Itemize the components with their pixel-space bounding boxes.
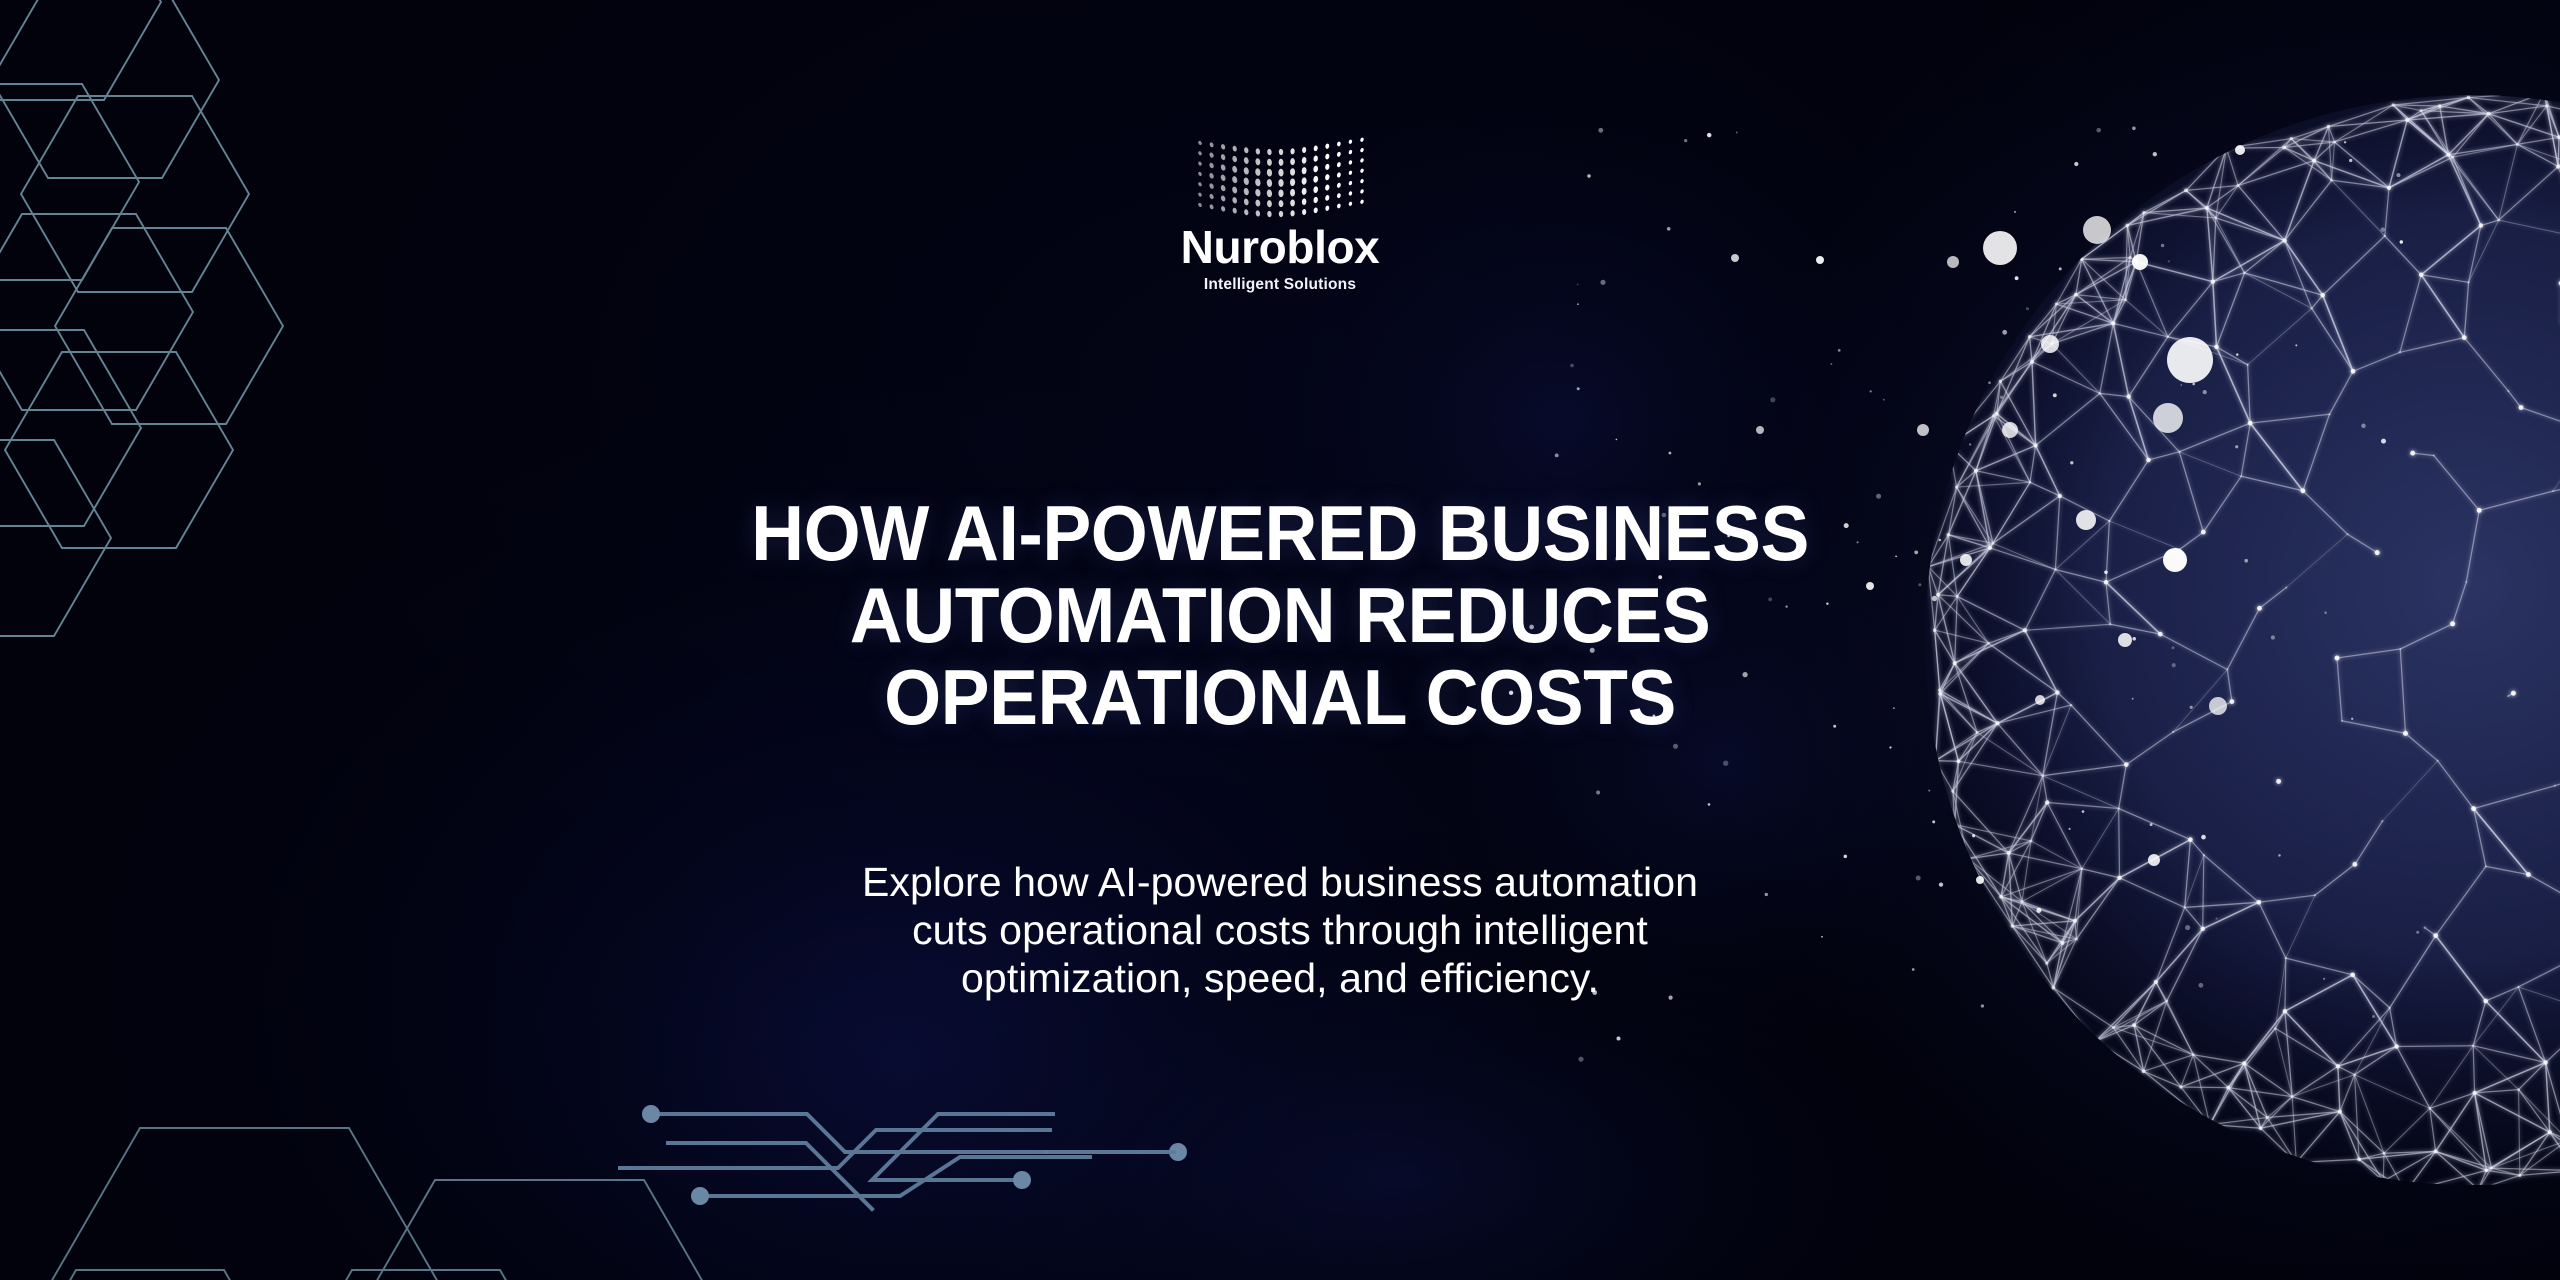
- dot-wave-grid-icon: [1190, 134, 1370, 220]
- headline-line-1: HOW AI-POWERED BUSINESS: [547, 492, 2013, 574]
- page-title: HOW AI-POWERED BUSINESS AUTOMATION REDUC…: [500, 492, 2060, 738]
- subtitle-line-1: Explore how AI-powered business automati…: [650, 858, 1910, 906]
- brand-tagline: Intelligent Solutions: [1070, 277, 1490, 293]
- brand-logo[interactable]: Nuroblox Intelligent Solutions: [1070, 134, 1490, 293]
- poster-canvas: Nuroblox Intelligent Solutions HOW AI-PO…: [0, 0, 2560, 1280]
- subtitle-line-3: optimization, speed, and efficiency.: [650, 954, 1910, 1002]
- headline-line-2: AUTOMATION REDUCES: [547, 574, 2013, 656]
- headline-line-3: OPERATIONAL COSTS: [547, 656, 2013, 738]
- subtitle-line-2: cuts operational costs through intellige…: [650, 906, 1910, 954]
- brand-name: Nuroblox: [1070, 224, 1490, 270]
- page-subtitle: Explore how AI-powered business automati…: [650, 858, 1910, 1002]
